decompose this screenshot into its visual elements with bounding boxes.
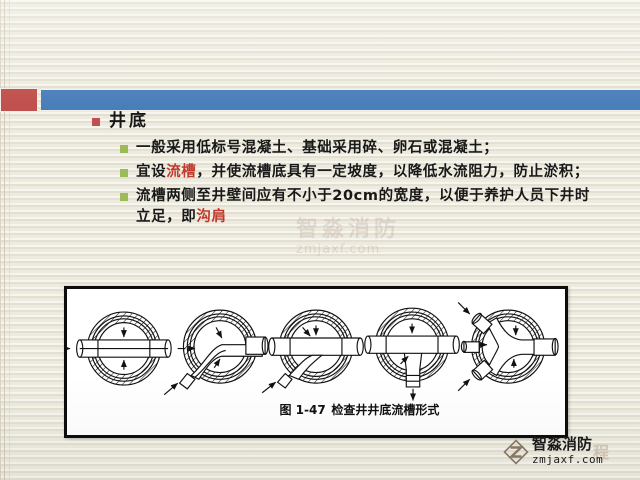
list-item-text: 一般采用低标号混凝土、基础采用碎、卵石或混凝土；: [136, 138, 498, 159]
bullet-list: 一般采用低标号混凝土、基础采用碎、卵石或混凝土； 宜设流槽，并使流槽底具有一定坡…: [120, 138, 612, 228]
square-bullet-icon: [120, 193, 128, 201]
figure-panel-4: [365, 308, 487, 400]
highlighted-term: 流槽: [166, 164, 196, 180]
square-bullet-icon: [120, 145, 128, 153]
diamond-logo-icon: [503, 439, 529, 465]
figure-panel-1: [67, 312, 195, 385]
square-bullet-icon: [92, 118, 100, 126]
header-rule-bar: [41, 89, 640, 111]
watermark-en-text: zmjaxf.com: [296, 242, 516, 257]
highlighted-term: 沟肩: [196, 209, 226, 225]
figure-illustration: 图 1-47 检查井井底流槽形式: [67, 289, 565, 435]
header-divider: [0, 88, 640, 112]
square-bullet-icon: [120, 169, 128, 177]
list-item-text: 宜设流槽，并使流槽底具有一定坡度，以降低水流阻力，防止淤积；: [136, 162, 589, 183]
header-accent-block: [0, 88, 38, 112]
figure-panel-5: [458, 302, 558, 390]
heading-item: 井底: [92, 110, 612, 132]
figure-caption-title: 检查井井底流槽形式: [331, 402, 439, 417]
brand-logo-text: 智淼消防 zmjaxf.com: [532, 437, 603, 466]
paper-margin-lines: [0, 0, 18, 480]
figure-caption-number: 图 1-47: [280, 403, 326, 417]
figure-frame: 图 1-47 检查井井底流槽形式: [64, 286, 568, 438]
brand-name-cn: 智淼消防: [532, 437, 603, 452]
list-item-text: 流槽两侧至井壁间应有不小于20cm的宽度，以便于养护人员下井时立足，即沟肩: [136, 186, 598, 228]
list-item: 宜设流槽，并使流槽底具有一定坡度，以降低水流阻力，防止淤积；: [120, 162, 612, 183]
brand-domain: zmjaxf.com: [532, 453, 603, 466]
list-item: 流槽两侧至井壁间应有不小于20cm的宽度，以便于养护人员下井时立足，即沟肩: [120, 186, 612, 228]
slide-canvas: 井底 一般采用低标号混凝土、基础采用碎、卵石或混凝土； 宜设流槽，并使流槽底具有…: [0, 0, 640, 480]
brand-logo[interactable]: 智淼消防 zmjaxf.com: [503, 437, 603, 466]
list-item: 一般采用低标号混凝土、基础采用碎、卵石或混凝土；: [120, 138, 612, 159]
content-body: 井底 一般采用低标号混凝土、基础采用碎、卵石或混凝土； 宜设流槽，并使流槽底具有…: [92, 110, 612, 231]
page-title: 井底: [109, 110, 149, 132]
